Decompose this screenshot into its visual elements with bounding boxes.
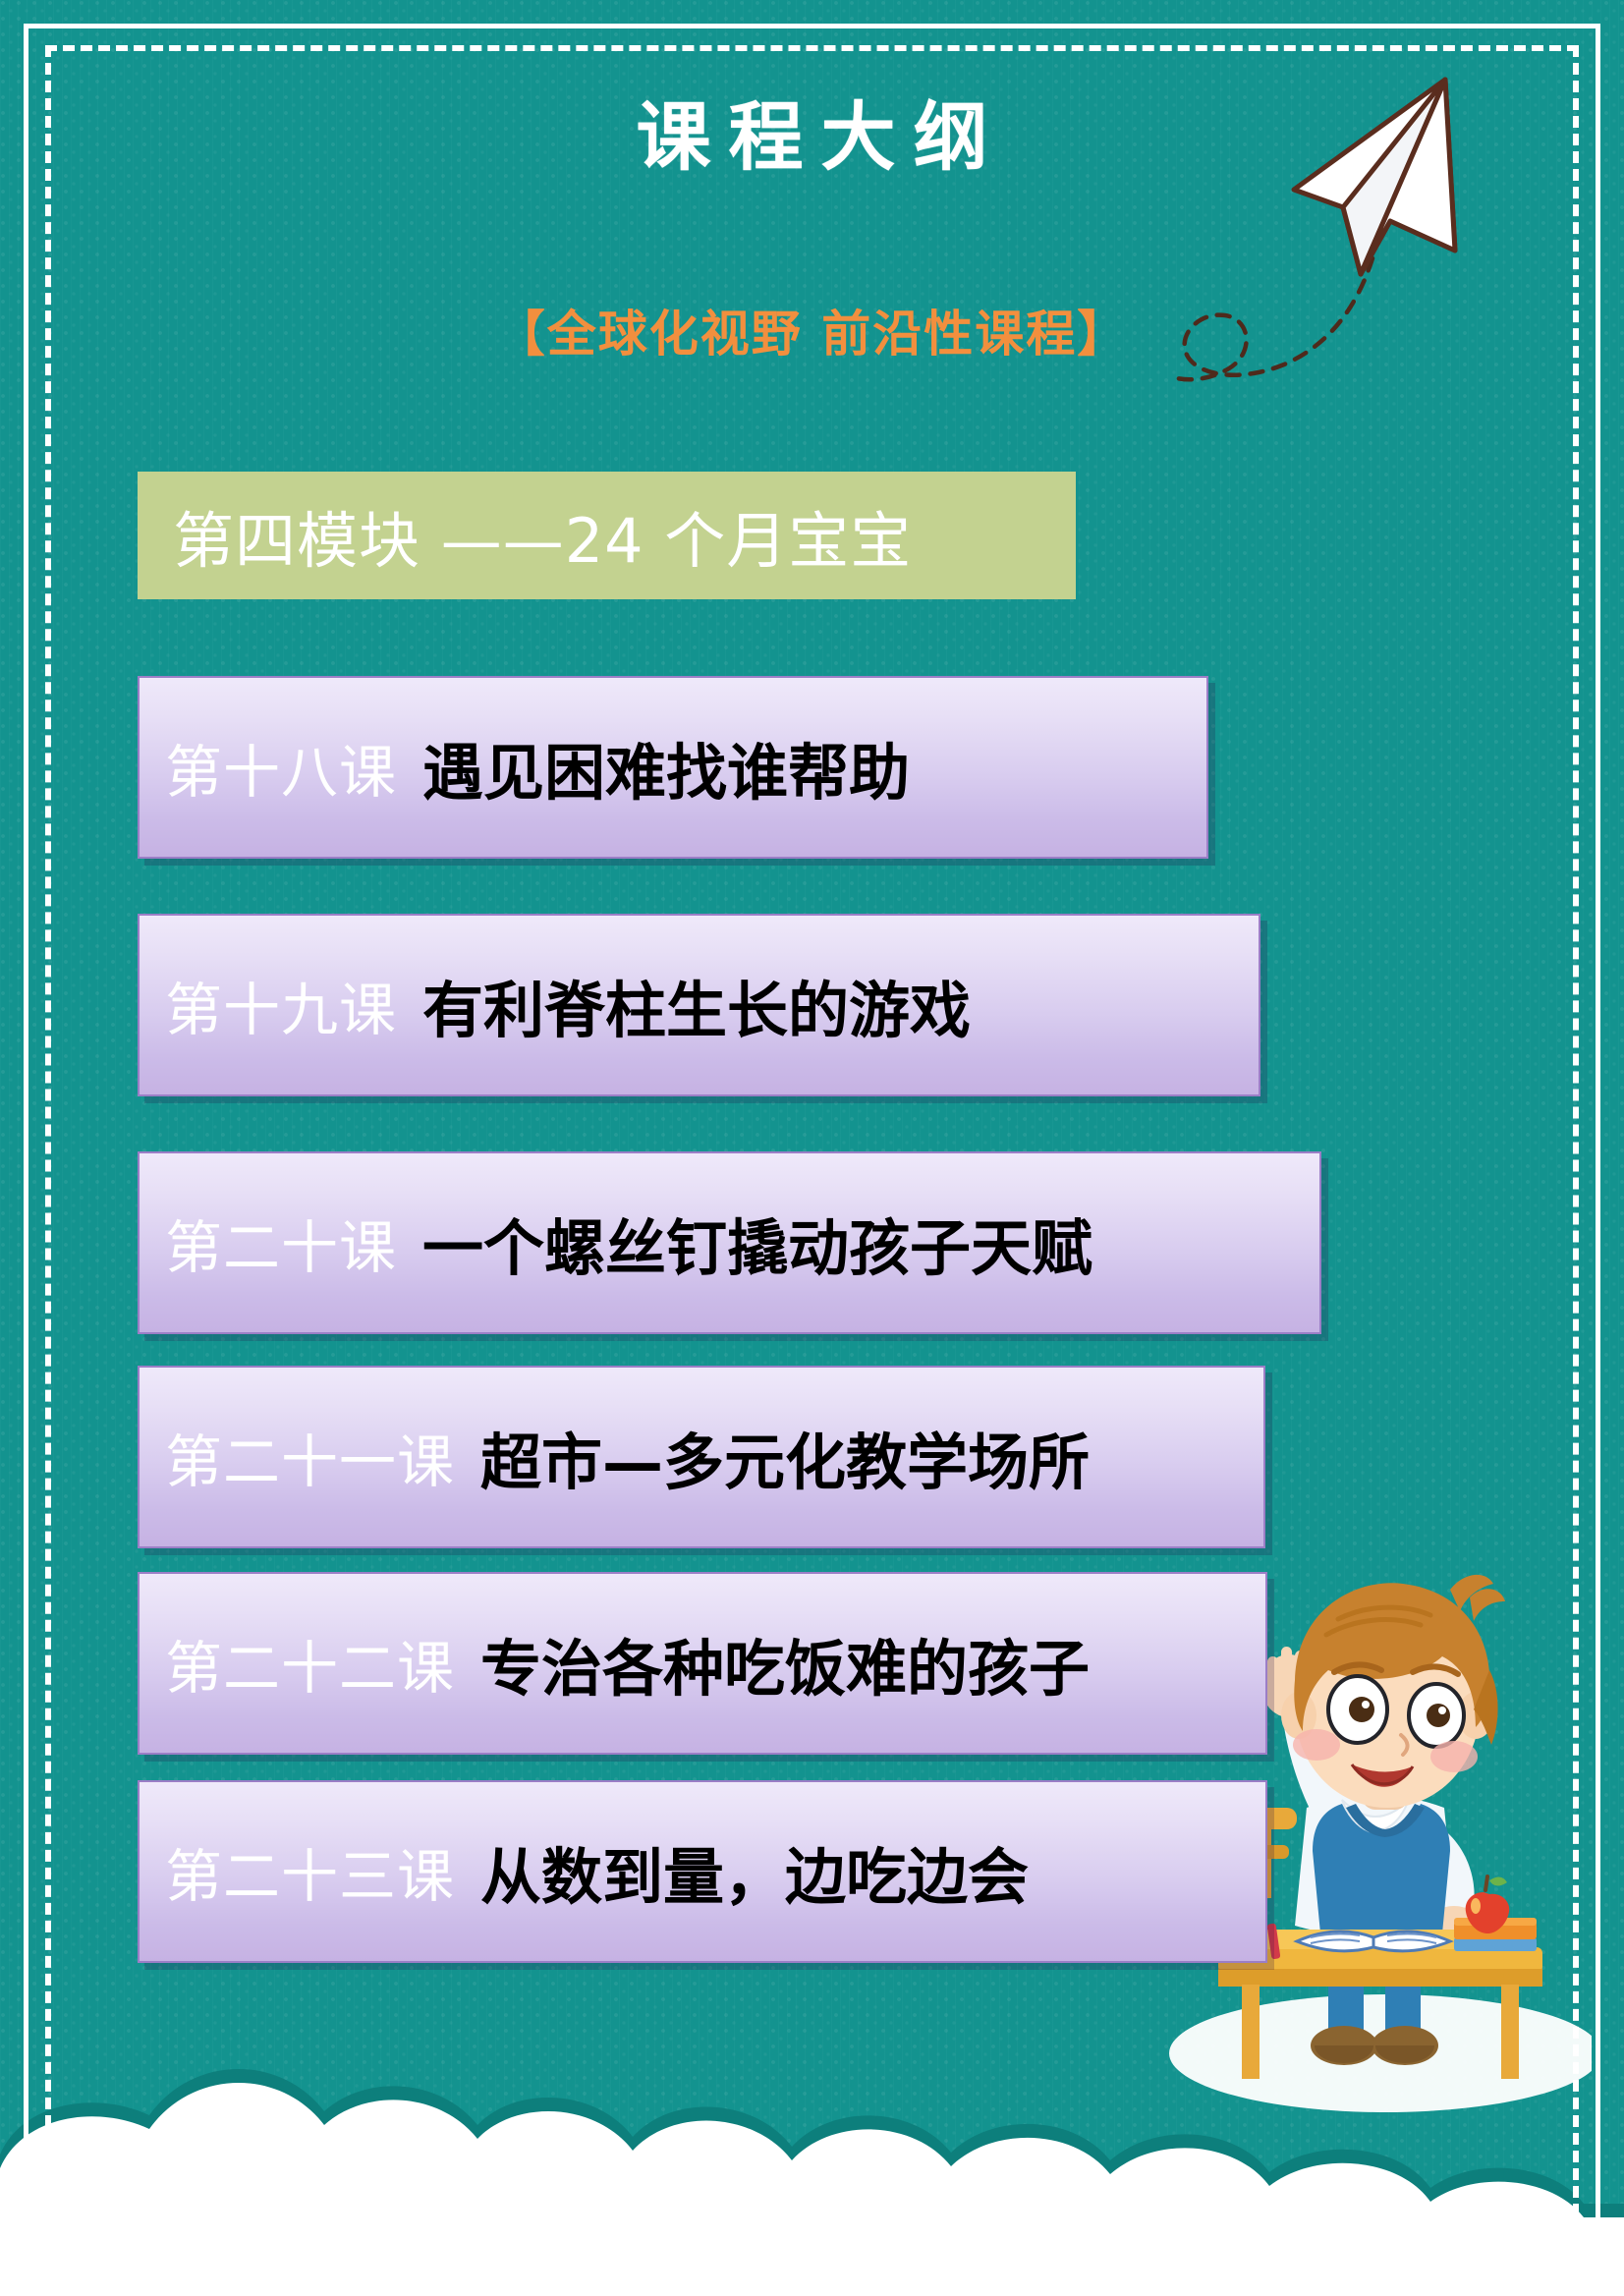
lesson-row[interactable]: 第二十二课专治各种吃饭难的孩子 [138,1572,1267,1755]
lesson-title: 从数到量，边吃边会 [480,1827,1029,1916]
page-title: 课程大纲 [0,77,1624,185]
lesson-title: 一个螺丝钉撬动孩子天赋 [422,1199,1092,1287]
lesson-title: 专治各种吃饭难的孩子 [480,1619,1090,1708]
lesson-row[interactable]: 第二十一课超市—多元化教学场所 [138,1366,1265,1548]
lesson-number: 第十八课 [165,726,397,809]
lesson-title: 超市—多元化教学场所 [480,1413,1090,1501]
lesson-number: 第二十课 [165,1202,397,1284]
module-header-bar: 第四模块 ——24 个月宝宝 [138,472,1076,599]
module-header-label: 第四模块 ——24 个月宝宝 [173,491,912,580]
lesson-row[interactable]: 第十八课遇见困难找谁帮助 [138,676,1208,859]
lesson-title: 遇见困难找谁帮助 [422,723,910,812]
lesson-row[interactable]: 第十九课有利脊柱生长的游戏 [138,914,1260,1096]
course-outline-poster: 课程大纲 【全球化视野 前沿性课程】 第四模块 ——24 个月宝宝 第十八课遇见… [0,0,1624,2296]
lesson-row[interactable]: 第二十课一个螺丝钉撬动孩子天赋 [138,1151,1321,1334]
lesson-number: 第二十二课 [165,1622,455,1705]
lesson-row[interactable]: 第二十三课从数到量，边吃边会 [138,1780,1267,1963]
lesson-number: 第二十一课 [165,1416,455,1498]
lesson-number: 第二十三课 [165,1830,455,1913]
lesson-number: 第十九课 [165,964,397,1046]
page-subtitle: 【全球化视野 前沿性课程】 [0,295,1624,365]
lesson-title: 有利脊柱生长的游戏 [422,961,971,1049]
